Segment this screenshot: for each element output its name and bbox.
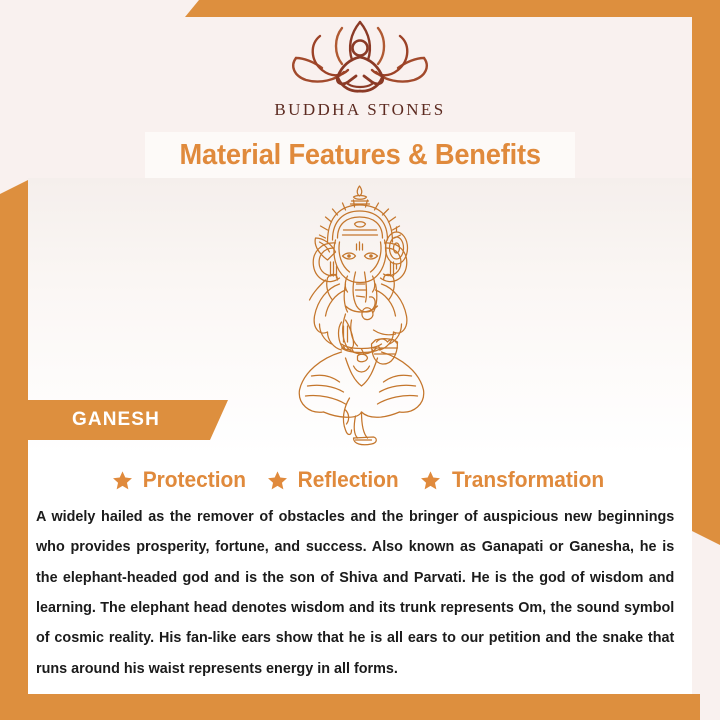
feature-item-reflection: Reflection (267, 467, 401, 493)
brand-logo: BUDDHA STONES (0, 18, 720, 120)
frame-left-bar (0, 180, 28, 720)
star-icon (112, 470, 133, 491)
frame-top-bar (185, 0, 720, 17)
deity-name-ribbon: GANESH (0, 400, 228, 440)
feature-item-transformation: Transformation (420, 467, 608, 493)
lotus-meditation-figure-icon (280, 18, 440, 96)
star-icon (267, 470, 288, 491)
description-paragraph: A widely hailed as the remover of obstac… (36, 502, 674, 684)
feature-item-protection: Protection (112, 467, 249, 493)
feature-label: Protection (143, 467, 246, 493)
feature-label: Transformation (452, 467, 604, 493)
content-card: Protection Reflection Transformation A w… (28, 455, 692, 694)
frame-bottom-bar (0, 694, 700, 720)
brand-name: BUDDHA STONES (274, 100, 445, 120)
deity-name-label: GANESH (72, 409, 160, 431)
star-icon (420, 470, 441, 491)
feature-label: Reflection (298, 467, 399, 493)
page-title: Material Features & Benefits (179, 139, 540, 172)
ganesh-deity-line-art-icon (258, 180, 463, 450)
feature-list: Protection Reflection Transformation (28, 455, 692, 493)
poster-root: BUDDHA STONES Material Features & Benefi… (0, 0, 720, 720)
headline-banner: Material Features & Benefits (145, 132, 575, 178)
